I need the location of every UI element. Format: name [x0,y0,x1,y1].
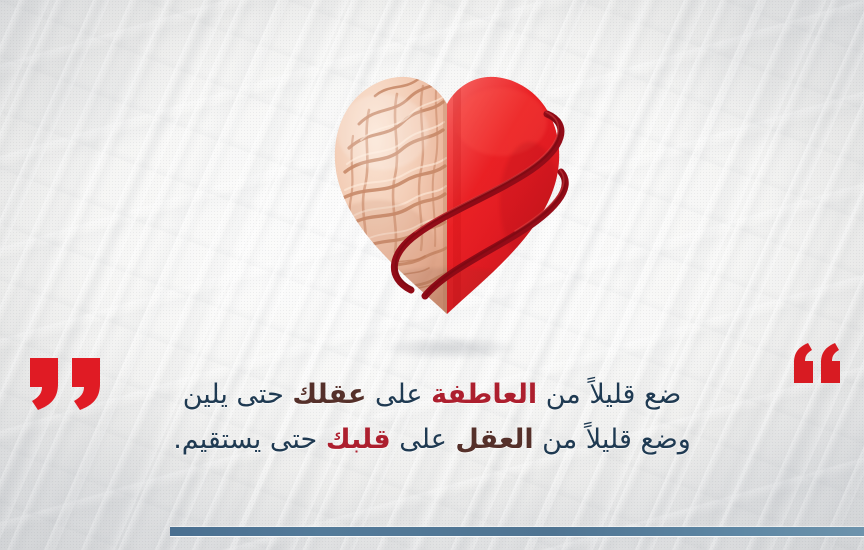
quote-word-emphasis-red: العاطفة [431,379,537,410]
poster-canvas: ضع قليلاً من العاطفة على عقلك حتى يلين و… [0,0,864,550]
quote-word: على [366,379,431,410]
footer-rule [170,527,864,536]
quote-text: ضع قليلاً من العاطفة على عقلك حتى يلين و… [0,372,864,462]
quote-word: على [391,424,456,455]
quote-word-emphasis-brown: العقل [455,424,533,455]
quote-line: وضع قليلاً من العقل على قلبك حتى يستقيم. [120,417,744,462]
quote-word-emphasis-red: قلبك [326,424,391,455]
illustration-drop-shadow [385,338,515,358]
quote-word: حتى يستقيم. [173,424,326,455]
quote-word: ضع قليلاً من [537,379,681,410]
quote-word-emphasis-brown: عقلك [292,379,366,410]
quote-word: حتى يلين [183,379,293,410]
quote-word: وضع قليلاً من [534,424,691,455]
brain-heart-illustration [325,52,569,320]
quote-line: ضع قليلاً من العاطفة على عقلك حتى يلين [120,372,744,417]
